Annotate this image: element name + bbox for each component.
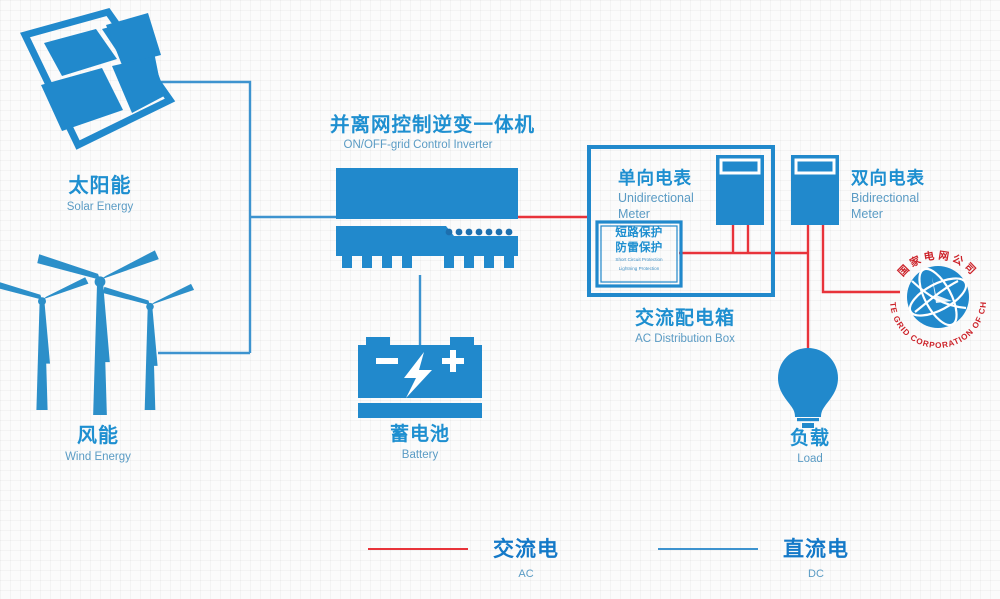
wind-turbine-icon — [0, 250, 194, 415]
unidirectional-meter-icon — [716, 155, 764, 225]
uni-meter-cn: 单向电表 — [618, 168, 714, 188]
battery-label-en: Battery — [350, 449, 490, 462]
state-grid-cn-text: 国家电网公司 — [896, 249, 980, 279]
ac-distribution-box-label: 交流配电箱 AC Distribution Box — [600, 308, 770, 346]
bidirectional-meter-label: 双向电表 Bidirectional Meter — [851, 168, 951, 222]
diagram-graphics-layer — [0, 0, 1000, 599]
svg-text:国家电网公司: 国家电网公司 — [896, 249, 980, 279]
legend-dc-line-swatch — [658, 548, 758, 550]
state-grid-logo-text: 国家电网公司 STATE GRID CORPORATION OF CHINA — [878, 240, 998, 354]
bidirectional-meter-icon — [791, 155, 839, 225]
unidirectional-meter-label: 单向电表 Unidirectional Meter — [618, 168, 714, 222]
load-label-en: Load — [760, 453, 860, 466]
bi-meter-en-1: Bidirectional — [851, 191, 951, 207]
inverter-title-en: ON/OFF-grid Control Inverter — [330, 139, 506, 152]
wind-label: 风能 Wind Energy — [28, 425, 168, 464]
protection-label: 短路保护 防雷保护 Short Circuit Protection Light… — [600, 226, 678, 282]
protection-cn-2: 防雷保护 — [600, 241, 678, 256]
battery-label-cn: 蓄电池 — [350, 424, 490, 446]
solar-panel-icon — [25, 12, 170, 145]
dc-line-solar-bus — [160, 82, 250, 353]
wind-label-en: Wind Energy — [28, 451, 168, 464]
legend-ac-line-swatch — [368, 548, 468, 550]
inverter-title: 并离网控制逆变一体机 ON/OFF-grid Control Inverter — [330, 114, 506, 153]
legend-ac-text: 交流电 AC — [486, 533, 566, 580]
load-label-cn: 负载 — [760, 428, 860, 450]
load-label: 负载 Load — [760, 428, 860, 466]
legend: 交流电 AC 直流电 DC — [360, 533, 880, 593]
solar-label-en: Solar Energy — [30, 201, 170, 214]
battery-icon — [358, 337, 482, 418]
solar-label: 太阳能 Solar Energy — [30, 175, 170, 214]
wind-label-cn: 风能 — [28, 425, 168, 448]
energy-flow-diagram: 国家电网公司 STATE GRID CORPORATION OF CHINA 并… — [0, 0, 1000, 599]
acbox-label-cn: 交流配电箱 — [600, 308, 770, 330]
bi-meter-cn: 双向电表 — [851, 168, 951, 188]
light-bulb-icon — [778, 348, 838, 428]
acbox-label-en: AC Distribution Box — [600, 333, 770, 346]
legend-dc-cn: 直流电 — [776, 533, 856, 563]
protection-cn-1: 短路保护 — [600, 226, 678, 241]
solar-label-cn: 太阳能 — [30, 175, 170, 198]
protection-en-1: Short Circuit Protection — [600, 257, 678, 264]
inverter-title-cn: 并离网控制逆变一体机 — [330, 114, 506, 136]
inverter-icon — [336, 168, 518, 268]
uni-meter-en-2: Meter — [618, 207, 714, 223]
legend-dc-text: 直流电 DC — [776, 533, 856, 580]
battery-label: 蓄电池 Battery — [350, 424, 490, 462]
legend-ac-cn: 交流电 — [486, 533, 566, 563]
legend-dc-en: DC — [776, 568, 856, 580]
uni-meter-en-1: Unidirectional — [618, 191, 714, 207]
legend-ac-en: AC — [486, 568, 566, 580]
protection-en-2: Lightning Protection — [600, 266, 678, 273]
bi-meter-en-2: Meter — [851, 207, 951, 223]
